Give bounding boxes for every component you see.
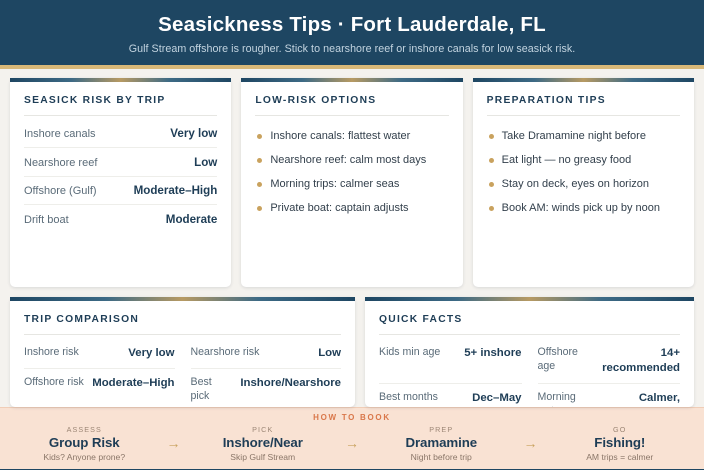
list-item-label: Book AM: winds pick up by noon	[502, 201, 660, 216]
how-to-book-title: How to Book	[14, 413, 690, 422]
risk-value: Moderate	[166, 213, 218, 226]
prep-list: Take Dramamine night before Eat light — …	[487, 120, 680, 221]
kv-label: Offshore age	[538, 346, 589, 374]
risk-row: Offshore (Gulf) Moderate–High	[24, 177, 217, 206]
bullet-dot-icon	[489, 158, 494, 163]
kv-pair: Offshore risk Moderate–High	[24, 369, 175, 407]
kv-label: Morning water	[538, 391, 600, 406]
risk-label: Nearshore reef	[24, 157, 97, 169]
bullet-dot-icon	[489, 182, 494, 187]
step-title: Fishing!	[550, 435, 691, 450]
list-item-label: Take Dramamine night before	[502, 129, 646, 144]
list-item-label: Nearshore reef: calm most days	[270, 153, 426, 168]
bullet-dot-icon	[489, 134, 494, 139]
kv-pair: Offshore age 14+ recommended	[538, 339, 681, 384]
step-title: Inshore/Near	[193, 435, 334, 450]
step-go: Go Fishing! AM trips = calmer	[550, 425, 691, 462]
step-kicker: Prep	[371, 425, 512, 434]
page-title: Seasickness Tips · Fort Lauderdale, FL	[20, 13, 684, 37]
list-item: Book AM: winds pick up by noon	[487, 197, 680, 221]
bullet-dot-icon	[489, 206, 494, 211]
step-desc: Night before trip	[371, 452, 512, 462]
top-card-row: Seasick Risk by Trip Inshore canals Very…	[10, 78, 694, 287]
risk-row: Nearshore reef Low	[24, 148, 217, 177]
list-item-label: Private boat: captain adjusts	[270, 201, 408, 216]
step-assess: Assess Group Risk Kids? Anyone prone?	[14, 425, 155, 462]
step-kicker: Go	[550, 425, 691, 434]
kv-value: Inshore/Nearshore	[240, 376, 341, 391]
risk-value: Moderate–High	[134, 184, 218, 197]
risk-label: Offshore (Gulf)	[24, 185, 97, 197]
kv-pair: Best months Dec–May	[379, 384, 522, 407]
list-item: Private boat: captain adjusts	[255, 197, 448, 221]
kv-pair: Best pick Inshore/Nearshore	[191, 369, 342, 407]
risk-value: Low	[194, 156, 217, 169]
page-root: Seasickness Tips · Fort Lauderdale, FL G…	[0, 0, 704, 470]
step-kicker: Assess	[14, 425, 155, 434]
card-preparation-tips: Preparation Tips Take Dramamine night be…	[473, 78, 694, 287]
kv-value: Dec–May	[472, 391, 521, 406]
kv-label: Best months	[379, 391, 438, 405]
how-to-book-steps: Assess Group Risk Kids? Anyone prone? → …	[14, 425, 690, 462]
page-subtitle: Gulf Stream offshore is rougher. Stick t…	[20, 43, 684, 55]
kv-value: Moderate–High	[92, 376, 174, 391]
kv-label: Inshore risk	[24, 346, 79, 360]
kv-label: Offshore risk	[24, 376, 84, 390]
kv-value: 14+ recommended	[596, 346, 680, 376]
risk-list: Inshore canals Very low Nearshore reef L…	[24, 120, 217, 233]
card-title-seasick-risk: Seasick Risk by Trip	[24, 95, 217, 116]
kv-pair: Nearshore risk Low	[191, 339, 342, 369]
card-title-quick-facts: Quick Facts	[379, 314, 680, 335]
card-seasick-risk: Seasick Risk by Trip Inshore canals Very…	[10, 78, 231, 287]
quick-facts-grid: Kids min age 5+ inshore Offshore age 14+…	[379, 339, 680, 407]
kv-pair: Inshore risk Very low	[24, 339, 175, 369]
arrow-right-icon: →	[333, 436, 371, 450]
kv-pair: Morning water Calmer, cooler	[538, 384, 681, 407]
kv-pair: Kids min age 5+ inshore	[379, 339, 522, 384]
how-to-book-section: How to Book Assess Group Risk Kids? Anyo…	[0, 407, 704, 469]
step-pick: Pick Inshore/Near Skip Gulf Stream	[193, 425, 334, 462]
card-title-trip-comparison: Trip Comparison	[24, 314, 341, 335]
kv-value: 5+ inshore	[464, 346, 521, 361]
list-item: Inshore canals: flattest water	[255, 125, 448, 149]
low-risk-list: Inshore canals: flattest water Nearshore…	[255, 120, 448, 221]
card-title-preparation-tips: Preparation Tips	[487, 95, 680, 116]
bullet-dot-icon	[257, 158, 262, 163]
risk-row: Drift boat Moderate	[24, 205, 217, 233]
panel-quick-facts: Quick Facts Kids min age 5+ inshore Offs…	[365, 297, 694, 407]
card-low-risk-options: Low-Risk Options Inshore canals: flattes…	[241, 78, 462, 287]
list-item: Nearshore reef: calm most days	[255, 149, 448, 173]
panel-trip-comparison: Trip Comparison Inshore risk Very low Ne…	[10, 297, 355, 407]
risk-row: Inshore canals Very low	[24, 120, 217, 149]
bullet-dot-icon	[257, 182, 262, 187]
page-header: Seasickness Tips · Fort Lauderdale, FL G…	[0, 0, 704, 69]
bullet-dot-icon	[257, 134, 262, 139]
list-item: Stay on deck, eyes on horizon	[487, 173, 680, 197]
bottom-panel-row: Trip Comparison Inshore risk Very low Ne…	[10, 297, 694, 407]
step-prep: Prep Dramamine Night before trip	[371, 425, 512, 462]
step-desc: AM trips = calmer	[550, 452, 691, 462]
kv-value: Low	[318, 346, 341, 361]
list-item-label: Morning trips: calmer seas	[270, 177, 399, 192]
step-desc: Kids? Anyone prone?	[14, 452, 155, 462]
step-title: Group Risk	[14, 435, 155, 450]
kv-label: Nearshore risk	[191, 346, 260, 360]
step-kicker: Pick	[193, 425, 334, 434]
main-content: Seasick Risk by Trip Inshore canals Very…	[0, 69, 704, 407]
arrow-right-icon: →	[512, 436, 550, 450]
list-item-label: Eat light — no greasy food	[502, 153, 632, 168]
kv-value: Calmer, cooler	[607, 391, 680, 406]
list-item: Morning trips: calmer seas	[255, 173, 448, 197]
risk-value: Very low	[170, 127, 217, 140]
list-item: Take Dramamine night before	[487, 125, 680, 149]
card-title-low-risk-options: Low-Risk Options	[255, 95, 448, 116]
list-item-label: Stay on deck, eyes on horizon	[502, 177, 649, 192]
list-item: Eat light — no greasy food	[487, 149, 680, 173]
risk-label: Drift boat	[24, 214, 69, 226]
kv-label: Kids min age	[379, 346, 440, 360]
kv-label: Best pick	[191, 376, 233, 404]
step-desc: Skip Gulf Stream	[193, 452, 334, 462]
step-title: Dramamine	[371, 435, 512, 450]
risk-label: Inshore canals	[24, 128, 96, 140]
trip-comparison-grid: Inshore risk Very low Nearshore risk Low…	[24, 339, 341, 407]
kv-value: Very low	[128, 346, 174, 361]
list-item-label: Inshore canals: flattest water	[270, 129, 410, 144]
bullet-dot-icon	[257, 206, 262, 211]
arrow-right-icon: →	[155, 436, 193, 450]
